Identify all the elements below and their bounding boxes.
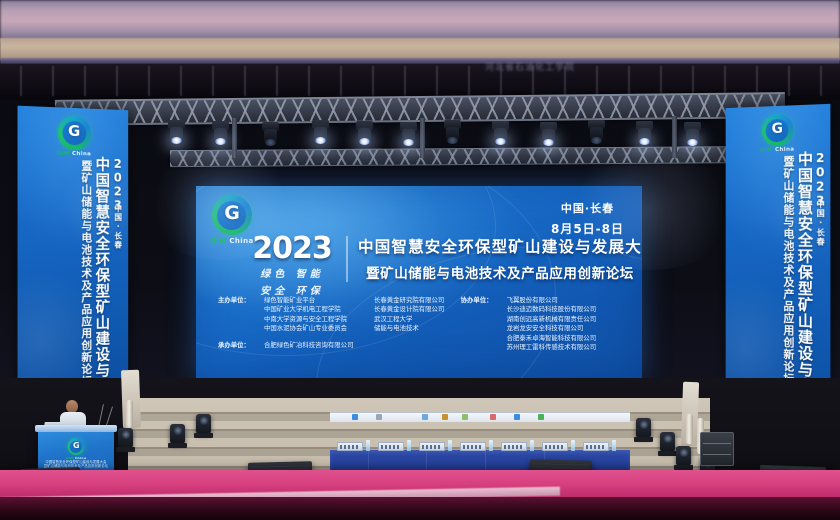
cosponsor-name: 长沙迪迈数码科技股份有限公司 — [507, 305, 632, 314]
organizer-name: 绿色智能矿业平台 — [264, 296, 374, 305]
water-bottle — [366, 440, 370, 451]
ceiling-vent-slat — [564, 66, 566, 96]
ceiling-vent-slat — [244, 66, 246, 96]
ceiling-vent-slat — [372, 66, 374, 96]
left-baluster — [126, 400, 133, 430]
ceiling-vent-slat — [820, 66, 822, 96]
organizer-line: 中国水泥协会矿山专业委员会储能与电池技术 — [264, 324, 461, 333]
floor-moving-light — [676, 446, 691, 466]
screen-title-line1: 中国智慧安全环保型矿山建设与发展大会 — [358, 235, 632, 257]
ceiling-vent-slat — [596, 66, 598, 96]
screen-slogan-line1: 绿色 智能 — [244, 268, 340, 281]
equipment-flight-case — [700, 432, 734, 466]
organizer-line: 中国矿业大学机电工程学院长春黄金设计院有限公司 — [264, 305, 461, 314]
organizer-label: 主办单位： — [218, 296, 264, 334]
screen-title-line2: 暨矿山储能与电池技术及产品应用创新论坛 — [358, 262, 632, 282]
organizer-name: 中国水泥协会矿山专业委员会 — [264, 324, 374, 333]
ceiling-vent-slat — [500, 66, 502, 96]
organizer-items: 绿色智能矿业平台长春黄金研究院有限公司中国矿业大学机电工程学院长春黄金设计院有限… — [264, 296, 461, 334]
truss-upright — [232, 118, 237, 158]
organizer-line: 中南大学资源与安全工程学院武汉工程大学 — [264, 315, 461, 324]
venue-ceiling-text: 河北省石油化工学院 — [400, 60, 660, 74]
ceiling-vent-slat — [20, 66, 22, 96]
ceiling-vent-slat — [148, 66, 150, 96]
screen-year-block: 2023 绿色 智能 安全 环保 — [244, 234, 340, 298]
ceiling-wash — [0, 0, 840, 42]
name-card — [501, 442, 527, 451]
floor-moving-light — [636, 418, 651, 438]
right-banner-location: 中国·长春 — [815, 200, 826, 247]
cosponsor-name: 湖南创远高新机械有限责任公司 — [507, 315, 632, 324]
left-banner-logo: G GIM China — [57, 115, 92, 157]
ceiling-vent-slat — [308, 66, 310, 96]
host-value: 合肥绿色矿冶科技咨询有限公司 — [264, 341, 353, 350]
organizer-name: 长春黄金研究院有限公司 — [374, 296, 444, 305]
screen-sponsor-block: 主办单位： 绿色智能矿业平台长春黄金研究院有限公司中国矿业大学机电工程学院长春黄… — [218, 296, 632, 352]
water-bottle — [407, 440, 411, 451]
ceiling-vent-slat — [84, 66, 86, 96]
floor-moving-light — [118, 428, 133, 448]
left-banner-location: 中国·长春 — [113, 204, 124, 249]
water-bottle — [489, 440, 493, 451]
left-banner-logo-region: China — [72, 151, 91, 157]
ceiling-vent-slat — [52, 66, 54, 96]
ceiling-vent-slat — [404, 66, 406, 96]
ceiling-vent-slat — [340, 66, 342, 96]
right-baluster — [686, 414, 693, 444]
ceiling-vent-slat — [788, 66, 790, 96]
ceiling-vent-slat — [660, 66, 662, 96]
podium-logo: G GIM China — [66, 438, 87, 460]
screen-location: 中国·长春 — [551, 200, 624, 216]
cosponsor-name: 苏州理工雷科传感技术有限公司 — [507, 343, 632, 352]
organizer-line: 绿色智能矿业平台长春黄金研究院有限公司 — [264, 296, 461, 305]
screen-title-block: 中国智慧安全环保型矿山建设与发展大会 暨矿山储能与电池技术及产品应用创新论坛 — [358, 235, 632, 282]
floor-moving-light — [196, 414, 211, 434]
host-label: 承办单位： — [218, 341, 264, 350]
cosponsor-name: 合肥泰禾卓海智能科技有限公司 — [507, 334, 632, 343]
ceiling-vent-slat — [180, 66, 182, 96]
truss-upright — [420, 118, 425, 158]
name-card — [460, 442, 486, 451]
screen-date-block: 中国·长春 8月5日-8日 — [551, 200, 624, 237]
organizer-name: 武汉工程大学 — [374, 315, 412, 324]
stage-front-edge — [0, 497, 840, 520]
ceiling-vent-slat — [276, 66, 278, 96]
cosponsor-label: 协办单位： — [461, 296, 507, 352]
host-row: 承办单位： 合肥绿色矿冶科技咨询有限公司 — [218, 341, 461, 350]
name-card — [337, 442, 363, 451]
organizer-name: 储能与电池技术 — [374, 324, 419, 333]
right-banner-title-sub: 暨矿山储能与电池技术及产品应用创新论坛 — [780, 156, 796, 386]
floor-moving-light — [170, 424, 185, 444]
floor-moving-light — [660, 432, 675, 452]
ceiling-vent-slat — [212, 66, 214, 96]
water-bottle — [612, 440, 616, 451]
screen-logo-brand: GIM — [210, 237, 227, 245]
organizer-name: 中国矿业大学机电工程学院 — [264, 305, 374, 314]
stage-photo-scene: 河北省石油化工学院 G GIM China 中国智慧安全环保型矿山建设与发展大会… — [0, 0, 840, 520]
cosponsor-name: 飞翼股份有限公司 — [507, 296, 632, 305]
ceiling-vent-slat — [116, 66, 118, 96]
ceiling-vent-slat — [628, 66, 630, 96]
ceiling-vent-slat — [468, 66, 470, 96]
cosponsor-name: 龙岩龙安安全科技有限公司 — [507, 324, 632, 333]
organizer-column: 主办单位： 绿色智能矿业平台长春黄金研究院有限公司中国矿业大学机电工程学院长春黄… — [218, 296, 461, 352]
water-bottle — [571, 440, 575, 451]
ceiling-vent-slat — [436, 66, 438, 96]
water-bottle — [448, 440, 452, 451]
name-card — [419, 442, 445, 451]
organizer-name: 长春黄金设计院有限公司 — [374, 305, 444, 314]
water-bottle — [530, 440, 534, 451]
screen-year: 2023 — [244, 234, 340, 264]
name-card — [378, 442, 404, 451]
left-banner-logo-brand: GIM — [57, 151, 70, 157]
ceiling-vent-slat — [692, 66, 694, 96]
cosponsor-column: 协办单位： 飞翼股份有限公司长沙迪迈数码科技股份有限公司湖南创远高新机械有限责任… — [461, 296, 632, 352]
ceiling-vent-slat — [532, 66, 534, 96]
right-banner-logo-region: China — [775, 147, 794, 153]
left-banner-title-sub: 暨矿山储能与电池技术及产品应用创新论坛 — [78, 160, 94, 388]
name-card — [583, 442, 609, 451]
presentation-strip — [330, 412, 630, 422]
right-banner-logo: G GIM China — [760, 113, 795, 153]
right-banner-logo-brand: GIM — [760, 147, 773, 153]
name-card — [542, 442, 568, 451]
main-led-screen: G GIM China 中国·长春 8月5日-8日 2023 绿色 智能 安全 … — [196, 186, 642, 379]
truss-upright — [672, 116, 677, 158]
cosponsor-items: 飞翼股份有限公司长沙迪迈数码科技股份有限公司湖南创远高新机械有限责任公司龙岩龙安… — [507, 296, 632, 352]
organizer-name: 中南大学资源与安全工程学院 — [264, 315, 374, 324]
ceiling-beam-band — [0, 38, 840, 60]
podium-top-surface — [35, 425, 117, 432]
ceiling-vent-slat — [724, 66, 726, 96]
screen-divider — [346, 236, 348, 282]
